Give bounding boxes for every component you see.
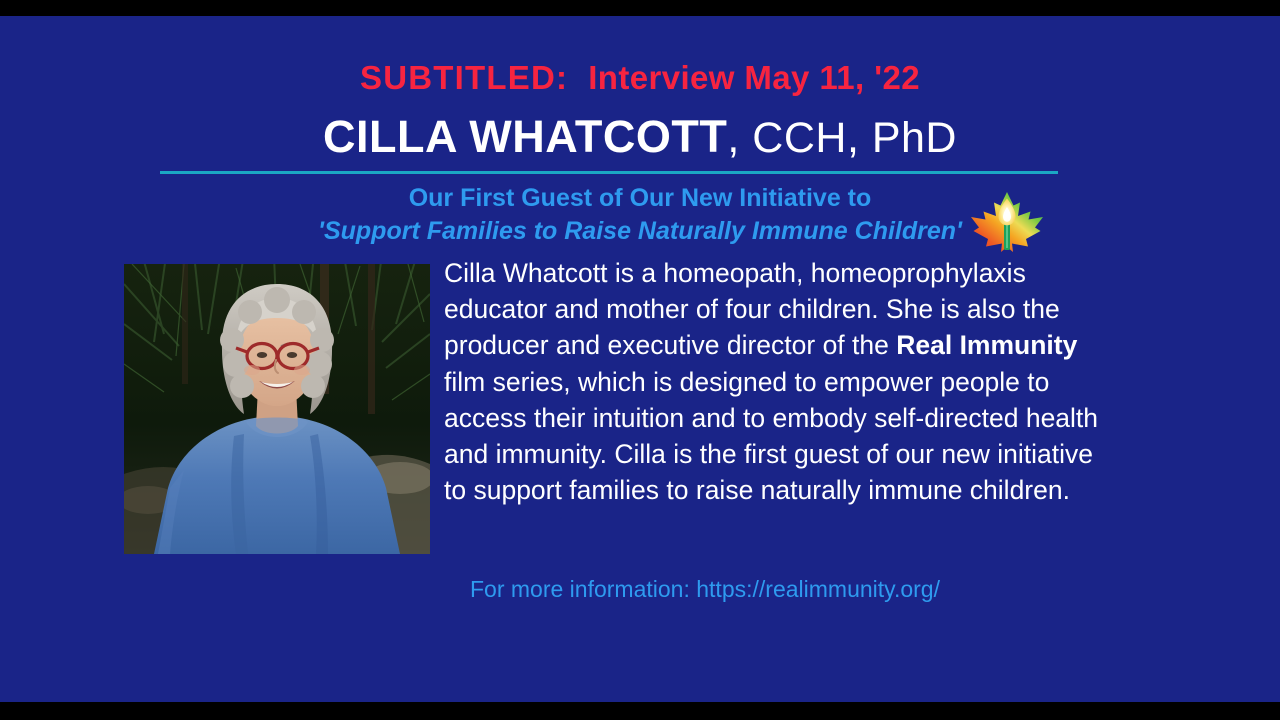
real-immunity-logo (968, 190, 1046, 256)
bio-part-3: film series, which is designed to empowe… (444, 367, 1098, 506)
speaker-photo (124, 264, 430, 554)
slide-stage: SUBTITLED:Interview May 11, '22 CILLA WH… (0, 0, 1280, 720)
header-divider-rule (160, 171, 1058, 174)
eyebrow-line: SUBTITLED:Interview May 11, '22 (0, 59, 1280, 97)
eyebrow-detail: Interview May 11, '22 (588, 59, 920, 96)
bio-part-2-bold: Real Immunity (896, 330, 1077, 360)
speaker-credentials: , CCH, PhD (727, 114, 957, 162)
bio-paragraph: Cilla Whatcott is a homeopath, homeoprop… (444, 255, 1116, 508)
more-information-label: For more information: (470, 576, 690, 602)
eyebrow-label: SUBTITLED: (360, 59, 568, 96)
more-information-link[interactable]: For more information: https://realimmuni… (470, 576, 940, 603)
subtitle-line-1: Our First Guest of Our New Initiative to (0, 184, 1280, 213)
letterbox-top (0, 0, 1280, 16)
speaker-name: CILLA WHATCOTT (323, 111, 727, 162)
letterbox-bottom (0, 702, 1280, 720)
speaker-name-row: CILLA WHATCOTT, CCH, PhD (0, 111, 1280, 163)
more-information-url[interactable]: https://realimmunity.org/ (696, 576, 940, 602)
subtitle-line-2: 'Support Families to Raise Naturally Imm… (0, 217, 1280, 246)
slide-content: SUBTITLED:Interview May 11, '22 CILLA WH… (0, 16, 1280, 702)
